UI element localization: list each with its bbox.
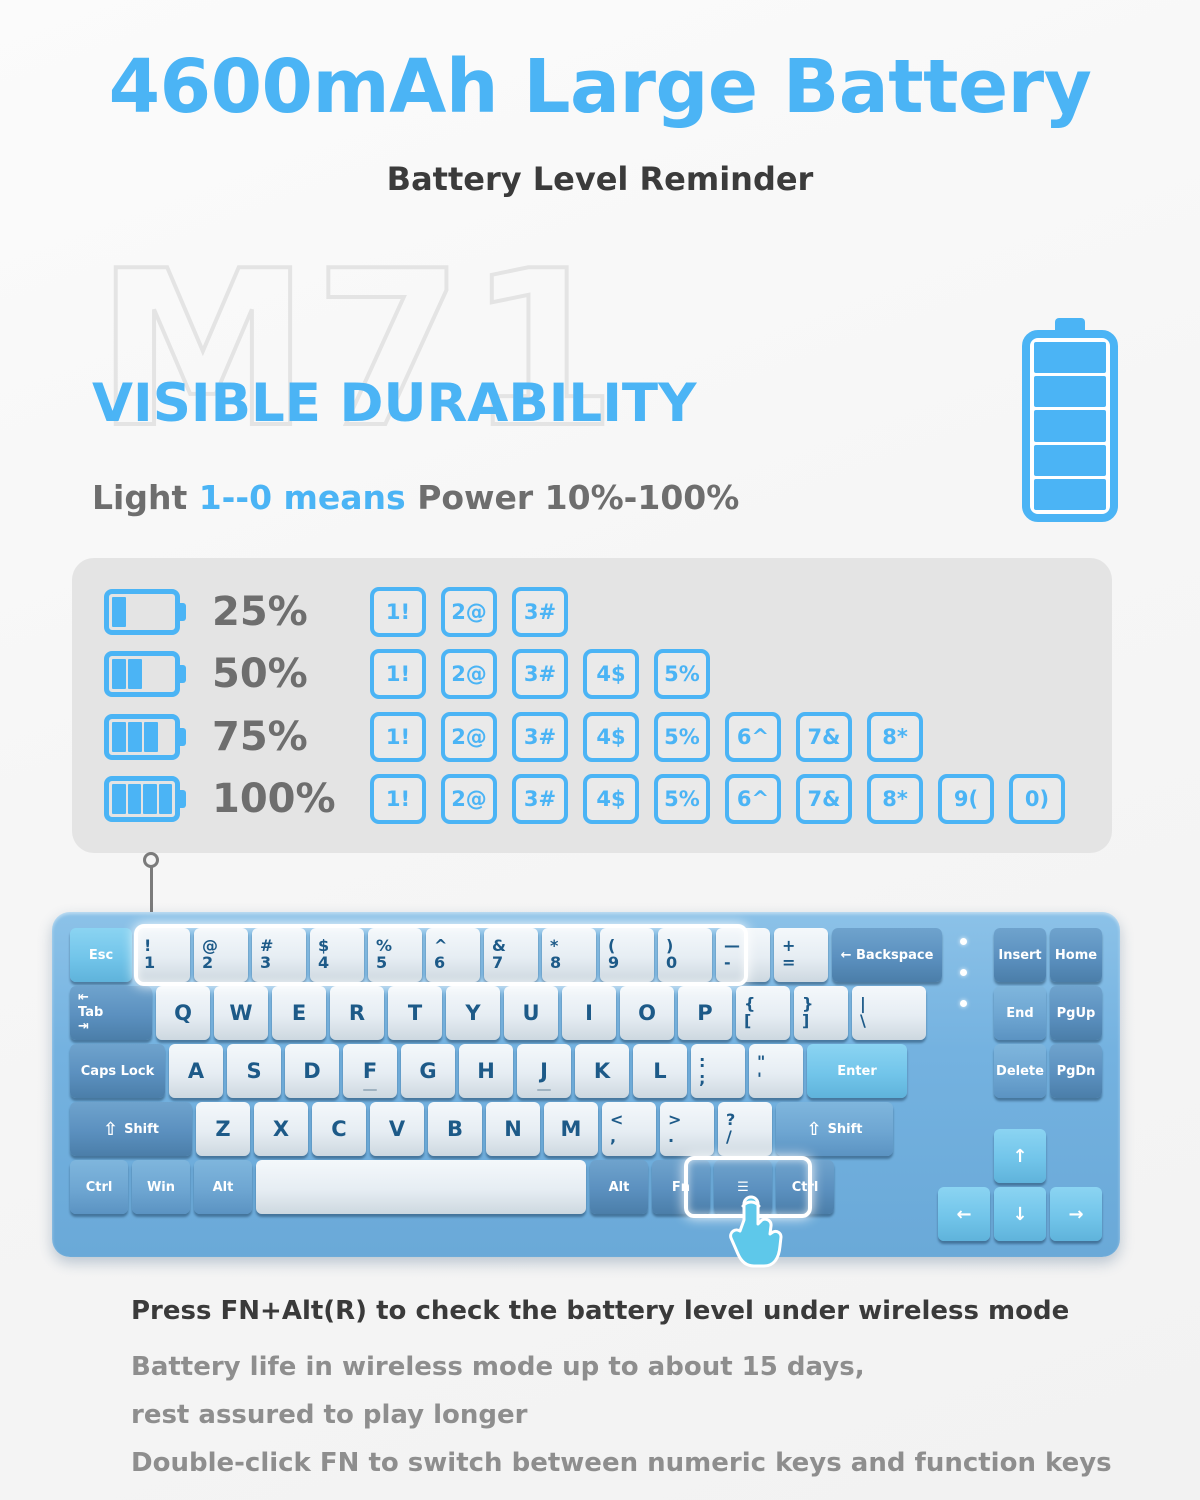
indicator-keycap: 1! xyxy=(370,774,426,824)
key-tab[interactable]: ⇤Tab⇥ xyxy=(70,986,152,1040)
key-slash[interactable]: ?/ xyxy=(718,1102,772,1156)
light-highlight: 1--0 means xyxy=(199,478,406,517)
key-lalt[interactable]: Alt xyxy=(194,1160,252,1214)
battery-icon-small xyxy=(104,589,186,635)
connector-dot-top xyxy=(143,852,159,868)
battery-level-row: 100%1!2@3#4$5%6^7&8*9(0) xyxy=(104,771,1065,827)
key-label: W xyxy=(229,1001,252,1025)
key-arrow-up[interactable]: ↑ xyxy=(994,1129,1046,1183)
navigation-cluster: InsertHomeEndPgUpDeletePgDn xyxy=(994,928,1102,1098)
key-label: K xyxy=(594,1059,610,1083)
key-label: Insert xyxy=(998,948,1041,963)
key-label: Ctrl xyxy=(86,1180,113,1195)
key-f[interactable]: F xyxy=(343,1044,397,1098)
battery-tip xyxy=(179,665,186,683)
key-comma[interactable]: <, xyxy=(602,1102,656,1156)
tab-arrow-left-icon: ⇤ xyxy=(78,991,89,1006)
key-home[interactable]: Home xyxy=(1050,928,1102,982)
key-legend-bottom: , xyxy=(610,1129,616,1146)
key-backslash[interactable]: |\ xyxy=(852,986,926,1040)
tab-arrow-right-icon: ⇥ xyxy=(78,1020,89,1035)
key-quote[interactable]: "' xyxy=(749,1044,803,1098)
key-label: Z xyxy=(215,1117,230,1141)
key-label: Tab xyxy=(78,1006,103,1021)
key-e[interactable]: E xyxy=(272,986,326,1040)
key-label: PgDn xyxy=(1057,1064,1096,1079)
key-label: Home xyxy=(1055,948,1097,963)
led-indicator xyxy=(960,1000,967,1007)
battery-bar xyxy=(143,784,157,814)
battery-segment xyxy=(1034,410,1106,441)
key-label: → xyxy=(1068,1204,1083,1225)
key-label: ↑ xyxy=(1012,1146,1027,1167)
key-legend-bottom: 7 xyxy=(492,955,503,972)
key-equal[interactable]: += xyxy=(774,928,828,982)
key-label: Fn xyxy=(672,1180,690,1195)
key-c[interactable]: C xyxy=(312,1102,366,1156)
battery-shell xyxy=(1022,330,1118,522)
key-label: V xyxy=(389,1117,405,1141)
indicator-keycap: 5% xyxy=(654,774,710,824)
key-label: Enter xyxy=(837,1064,877,1079)
key-l[interactable]: L xyxy=(633,1044,687,1098)
key-lctrl[interactable]: Ctrl xyxy=(70,1160,128,1214)
key-label: PgUp xyxy=(1057,1006,1096,1021)
key-i[interactable]: I xyxy=(562,986,616,1040)
battery-body xyxy=(104,651,180,697)
key-legend-bottom: / xyxy=(726,1129,732,1146)
indicator-keycap: 5% xyxy=(654,649,710,699)
note-line-3: Double-click FN to switch between numeri… xyxy=(131,1448,1112,1478)
key-legend-bottom: ' xyxy=(757,1071,762,1088)
note-line-1: Battery life in wireless mode up to abou… xyxy=(131,1352,865,1382)
key-legend-bottom: - xyxy=(724,955,731,972)
key-legend-bottom: ] xyxy=(802,1013,809,1030)
arrow-cluster: ↑←↓→ xyxy=(938,1129,1102,1241)
key-legend-bottom: 9 xyxy=(608,955,619,972)
key-legend-bottom: 6 xyxy=(434,955,445,972)
note-line-2: rest assured to play longer xyxy=(131,1400,528,1430)
battery-tip xyxy=(179,603,186,621)
key-legend-bottom: 1 xyxy=(144,955,155,972)
battery-bar xyxy=(128,784,142,814)
key-1[interactable]: !1 xyxy=(136,928,190,982)
key-legend-bottom: 2 xyxy=(202,955,213,972)
battery-icon-small xyxy=(104,651,186,697)
key-label: Ctrl xyxy=(792,1180,819,1195)
indicator-keycap: 2@ xyxy=(441,774,497,824)
indicator-keycap: 5% xyxy=(654,712,710,762)
key-u[interactable]: U xyxy=(504,986,558,1040)
battery-bar xyxy=(128,722,142,752)
key-arrow-left[interactable]: ← xyxy=(938,1187,990,1241)
key-ralt[interactable]: Alt xyxy=(590,1160,648,1214)
key-m[interactable]: M xyxy=(544,1102,598,1156)
key-label: B xyxy=(447,1117,463,1141)
key-legend-bottom: . xyxy=(668,1129,674,1146)
battery-icon-small xyxy=(104,776,186,822)
key-label: R xyxy=(349,1001,365,1025)
key-label: Shift xyxy=(124,1122,159,1137)
key-esc[interactable]: Esc xyxy=(70,928,132,982)
key-end[interactable]: End xyxy=(994,986,1046,1040)
key-q[interactable]: Q xyxy=(156,986,210,1040)
nav-row: EndPgUp xyxy=(994,986,1102,1040)
battery-level-panel: 25%1!2@3#50%1!2@3#4$5%75%1!2@3#4$5%6^7&8… xyxy=(72,558,1112,853)
key-minus[interactable]: —- xyxy=(716,928,770,982)
battery-tip xyxy=(179,728,186,746)
key-pgup[interactable]: PgUp xyxy=(1050,986,1102,1040)
key-label: N xyxy=(504,1117,522,1141)
indicator-key-set: 1!2@3# xyxy=(370,587,568,637)
key-label: S xyxy=(246,1059,261,1083)
light-level-caption: Light 1--0 means Power 10%-100% xyxy=(92,478,739,517)
indicator-keycap: 2@ xyxy=(441,587,497,637)
nav-row: DeletePgDn xyxy=(994,1044,1102,1098)
key-legend-bottom: = xyxy=(782,955,795,972)
indicator-keycap: 6^ xyxy=(725,712,781,762)
battery-body xyxy=(104,589,180,635)
key-t[interactable]: T xyxy=(388,986,442,1040)
key-pgdn[interactable]: PgDn xyxy=(1050,1044,1102,1098)
key-insert[interactable]: Insert xyxy=(994,928,1046,982)
key-backspace[interactable]: ← Backspace xyxy=(832,928,942,982)
key-arrow-down[interactable]: ↓ xyxy=(994,1187,1046,1241)
indicator-keycap: 9( xyxy=(938,774,994,824)
battery-percent-label: 50% xyxy=(212,651,364,697)
note-primary: Press FN+Alt(R) to check the battery lev… xyxy=(131,1296,1069,1326)
key-label: P xyxy=(697,1001,712,1025)
key-label: Win xyxy=(147,1180,175,1195)
battery-body xyxy=(104,776,180,822)
battery-bar xyxy=(144,722,158,752)
section-heading: VISIBLE DURABILITY xyxy=(92,373,696,434)
key-label: Y xyxy=(465,1001,480,1025)
key-label: J xyxy=(540,1059,548,1083)
key-8[interactable]: *8 xyxy=(542,928,596,982)
key-label: Q xyxy=(174,1001,192,1025)
indicator-key-set: 1!2@3#4$5%6^7&8* xyxy=(370,712,923,762)
key-rctrl[interactable]: Ctrl xyxy=(776,1160,834,1214)
key-4[interactable]: $4 xyxy=(310,928,364,982)
key-legend-bottom: 8 xyxy=(550,955,561,972)
battery-percent-label: 25% xyxy=(212,589,364,635)
key-label: Delete xyxy=(996,1064,1044,1079)
led-indicator xyxy=(960,938,967,945)
key-enter[interactable]: Enter xyxy=(807,1044,907,1098)
battery-level-row: 50%1!2@3#4$5% xyxy=(104,646,710,702)
keyboard-row-zxcv: ⇧ShiftZXCVBNM<,>.?/⇧Shift xyxy=(70,1102,893,1156)
key-d[interactable]: D xyxy=(285,1044,339,1098)
indicator-keycap: 4$ xyxy=(583,649,639,699)
indicator-keycap: 3# xyxy=(512,774,568,824)
page-subtitle: Battery Level Reminder xyxy=(0,160,1200,198)
key-semicolon[interactable]: :; xyxy=(691,1044,745,1098)
key-g[interactable]: G xyxy=(401,1044,455,1098)
key-p[interactable]: P xyxy=(678,986,732,1040)
indicator-keycap: 1! xyxy=(370,587,426,637)
led-indicator xyxy=(960,969,967,976)
key-w[interactable]: W xyxy=(214,986,268,1040)
battery-level-row: 25%1!2@3# xyxy=(104,584,568,640)
key-label: T xyxy=(408,1001,422,1025)
key-lbracket[interactable]: {[ xyxy=(736,986,790,1040)
keyboard-row-number: Esc!1@2#3$4%5^6&7*8(9)0—-+=← Backspace xyxy=(70,928,942,982)
light-suffix: Power 10%-100% xyxy=(406,478,740,517)
key-label: ← xyxy=(956,1204,971,1225)
indicator-keycap: 4$ xyxy=(583,774,639,824)
indicator-keycap: 1! xyxy=(370,712,426,762)
indicator-keycap: 7& xyxy=(796,774,852,824)
key-6[interactable]: ^6 xyxy=(426,928,480,982)
key-legend-bottom: \ xyxy=(860,1013,866,1030)
indicator-keycap: 7& xyxy=(796,712,852,762)
key-2[interactable]: @2 xyxy=(194,928,248,982)
key-label: Caps Lock xyxy=(81,1064,154,1079)
key-space[interactable] xyxy=(256,1160,586,1214)
key-label: E xyxy=(292,1001,306,1025)
key-label: F xyxy=(363,1059,377,1083)
indicator-keycap: 1! xyxy=(370,649,426,699)
key-legend-bottom: [ xyxy=(744,1013,751,1030)
key-r[interactable]: R xyxy=(330,986,384,1040)
key-v[interactable]: V xyxy=(370,1102,424,1156)
key-7[interactable]: &7 xyxy=(484,928,538,982)
key-j[interactable]: J xyxy=(517,1044,571,1098)
key-period[interactable]: >. xyxy=(660,1102,714,1156)
key-label: X xyxy=(273,1117,289,1141)
battery-bar xyxy=(112,784,126,814)
battery-level-row: 75%1!2@3#4$5%6^7&8* xyxy=(104,709,923,765)
indicator-keycap: 2@ xyxy=(441,712,497,762)
key-legend-bottom: ; xyxy=(699,1071,705,1088)
indicator-keycap: 2@ xyxy=(441,649,497,699)
key-h[interactable]: H xyxy=(459,1044,513,1098)
indicator-keycap: 8* xyxy=(867,712,923,762)
key-x[interactable]: X xyxy=(254,1102,308,1156)
indicator-keycap: 8* xyxy=(867,774,923,824)
key-delete[interactable]: Delete xyxy=(994,1044,1046,1098)
battery-segment xyxy=(1034,445,1106,476)
key-label: ↓ xyxy=(1012,1204,1027,1225)
key-label: C xyxy=(331,1117,346,1141)
shift-arrow-up-icon: ⇧ xyxy=(103,1119,118,1140)
key-0[interactable]: )0 xyxy=(658,928,712,982)
indicator-keycap: 6^ xyxy=(725,774,781,824)
led-indicators xyxy=(960,938,967,1031)
battery-bar xyxy=(112,659,126,689)
key-rshift[interactable]: ⇧Shift xyxy=(776,1102,893,1156)
key-rbracket[interactable]: }] xyxy=(794,986,848,1040)
key-label: M xyxy=(561,1117,582,1141)
key-label: ← Backspace xyxy=(841,948,934,963)
key-legend-bottom: 5 xyxy=(376,955,387,972)
key-k[interactable]: K xyxy=(575,1044,629,1098)
key-label: End xyxy=(1006,1006,1033,1021)
key-win[interactable]: Win xyxy=(132,1160,190,1214)
key-label: Alt xyxy=(213,1180,234,1195)
key-9[interactable]: (9 xyxy=(600,928,654,982)
key-label: Shift xyxy=(828,1122,863,1137)
battery-segment xyxy=(1034,479,1106,510)
key-legend-bottom: 0 xyxy=(666,955,677,972)
keyboard-row-home: Caps LockASDFGHJKL:;"'Enter xyxy=(70,1044,907,1098)
key-label: G xyxy=(419,1059,436,1083)
indicator-keycap: 3# xyxy=(512,587,568,637)
keyboard-row-qwerty: ⇤Tab⇥QWERTYUIOP{[}]|\ xyxy=(70,986,926,1040)
battery-bar xyxy=(112,722,126,752)
keyboard: Esc!1@2#3$4%5^6&7*8(9)0—-+=← Backspace ⇤… xyxy=(52,912,1120,1257)
indicator-keycap: 0) xyxy=(1009,774,1065,824)
key-label: Alt xyxy=(609,1180,630,1195)
battery-bar xyxy=(128,659,142,689)
key-5[interactable]: %5 xyxy=(368,928,422,982)
key-fn[interactable]: Fn xyxy=(652,1160,710,1214)
key-b[interactable]: B xyxy=(428,1102,482,1156)
key-label: U xyxy=(522,1001,539,1025)
key-arrow-right[interactable]: → xyxy=(1050,1187,1102,1241)
hand-cursor-icon xyxy=(720,1190,784,1276)
shift-arrow-up-icon: ⇧ xyxy=(806,1119,821,1140)
battery-segment xyxy=(1034,342,1106,373)
battery-icon-small xyxy=(104,714,186,760)
indicator-key-set: 1!2@3#4$5%6^7&8*9(0) xyxy=(370,774,1065,824)
key-label: I xyxy=(585,1001,593,1025)
key-a[interactable]: A xyxy=(169,1044,223,1098)
indicator-key-set: 1!2@3#4$5% xyxy=(370,649,710,699)
key-lshift[interactable]: ⇧Shift xyxy=(70,1102,192,1156)
battery-icon-large xyxy=(1022,318,1118,522)
key-label: Esc xyxy=(89,948,113,963)
battery-segment xyxy=(1034,376,1106,407)
key-legend-bottom: 4 xyxy=(318,955,329,972)
indicator-keycap: 4$ xyxy=(583,712,639,762)
battery-tip xyxy=(179,790,186,808)
light-prefix: Light xyxy=(92,478,199,517)
key-legend-bottom: 3 xyxy=(260,955,271,972)
key-label: H xyxy=(477,1059,495,1083)
key-label: D xyxy=(303,1059,320,1083)
battery-bar xyxy=(159,784,173,814)
key-y[interactable]: Y xyxy=(446,986,500,1040)
battery-percent-label: 75% xyxy=(212,714,364,760)
key-capslock[interactable]: Caps Lock xyxy=(70,1044,165,1098)
key-n[interactable]: N xyxy=(486,1102,540,1156)
indicator-keycap: 3# xyxy=(512,649,568,699)
nav-row: InsertHome xyxy=(994,928,1102,982)
key-s[interactable]: S xyxy=(227,1044,281,1098)
key-o[interactable]: O xyxy=(620,986,674,1040)
infographic-page: 4600mAh Large Battery Battery Level Remi… xyxy=(0,0,1200,1500)
battery-body xyxy=(104,714,180,760)
battery-bar xyxy=(112,597,126,627)
key-label: L xyxy=(653,1059,666,1083)
page-title: 4600mAh Large Battery xyxy=(0,44,1200,130)
key-label: A xyxy=(188,1059,204,1083)
key-3[interactable]: #3 xyxy=(252,928,306,982)
indicator-keycap: 3# xyxy=(512,712,568,762)
key-label: O xyxy=(638,1001,656,1025)
battery-percent-label: 100% xyxy=(212,776,364,822)
key-z[interactable]: Z xyxy=(196,1102,250,1156)
